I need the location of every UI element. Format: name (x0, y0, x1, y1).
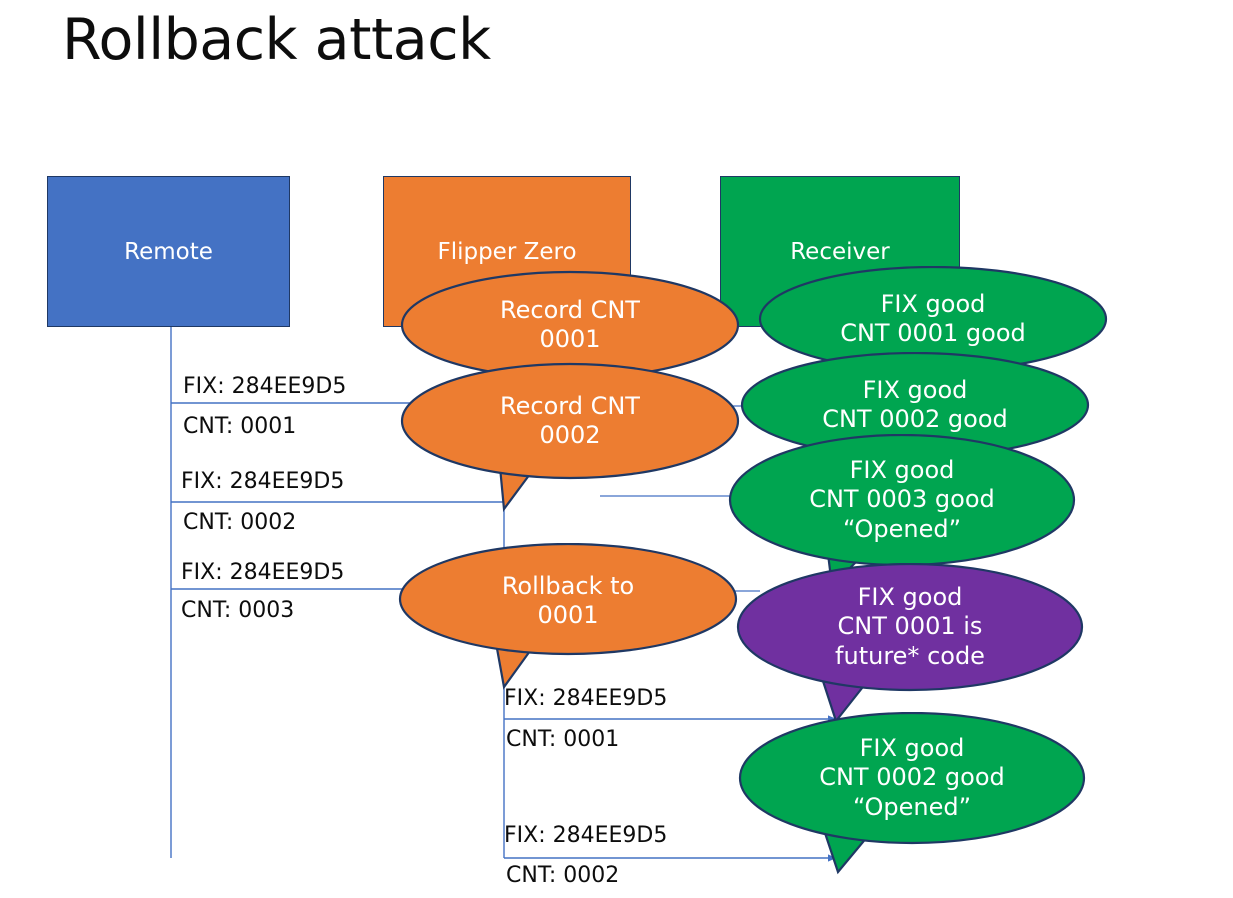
message-label-3-cnt: CNT: 0003 (181, 599, 294, 623)
message-label-2-cnt: CNT: 0002 (183, 511, 296, 535)
page-title: Rollback attack (62, 8, 491, 74)
message-label-5-fix: FIX: 284EE9D5 (504, 824, 667, 848)
message-label-4-fix: FIX: 284EE9D5 (504, 687, 667, 711)
message-label-1-fix: FIX: 284EE9D5 (183, 375, 346, 399)
callout-receiver-cnt-0003[interactable]: FIX good CNT 0003 good “Opened” (728, 434, 1076, 566)
callout-flipper-rollback[interactable]: Rollback to 0001 (398, 543, 738, 659)
bubble-shape (400, 362, 740, 512)
callout-receiver-future-code[interactable]: FIX good CNT 0001 is future* code (736, 563, 1084, 691)
message-label-5-cnt: CNT: 0002 (506, 864, 619, 888)
actor-label-receiver: Receiver (721, 239, 959, 265)
actor-label-remote: Remote (48, 239, 289, 265)
message-label-2-fix: FIX: 284EE9D5 (181, 470, 344, 494)
actor-box-remote[interactable]: Remote (47, 176, 290, 327)
callout-receiver-cnt-0002-opened[interactable]: FIX good CNT 0002 good “Opened” (738, 712, 1086, 844)
actor-label-flipper: Flipper Zero (384, 239, 630, 265)
message-label-3-fix: FIX: 284EE9D5 (181, 561, 344, 585)
bubble-shape (738, 712, 1086, 877)
message-label-4-cnt: CNT: 0001 (506, 728, 619, 752)
slide-canvas: Rollback attack Remote Flipper Zero (0, 0, 1233, 898)
message-label-1-cnt: CNT: 0001 (183, 415, 296, 439)
bubble-shape (736, 563, 1084, 728)
callout-flipper-record-0002[interactable]: Record CNT 0002 (400, 362, 740, 480)
bubble-shape (398, 543, 738, 693)
